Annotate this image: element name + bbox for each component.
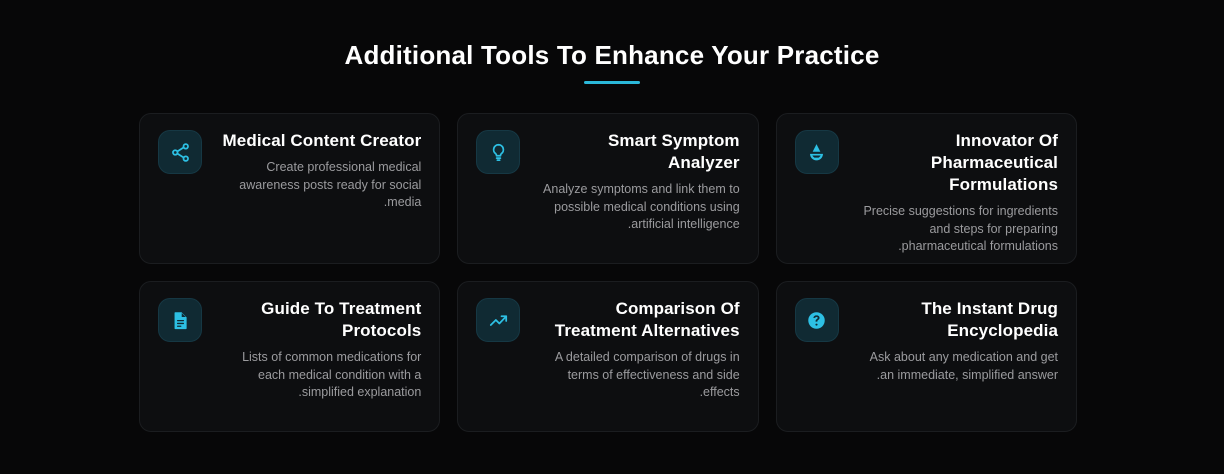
- card-text-block: Smart Symptom Analyzer Analyze symptoms …: [534, 130, 739, 234]
- card-text-block: Guide To Treatment Protocols Lists of co…: [216, 298, 421, 402]
- card-text-block: The Instant Drug Encyclopedia Ask about …: [853, 298, 1058, 384]
- card-title: Smart Symptom Analyzer: [534, 130, 739, 174]
- card-icon-tile[interactable]: [158, 130, 202, 174]
- tool-card-treatment-alternatives[interactable]: Comparison Of Treatment Alternatives A d…: [457, 281, 758, 432]
- card-text-block: Medical Content Creator Create professio…: [216, 130, 421, 212]
- share-icon: [170, 142, 191, 163]
- card-description: Lists of common medications for each med…: [216, 349, 421, 402]
- lightbulb-icon: [488, 142, 509, 163]
- tool-card-treatment-protocols[interactable]: Guide To Treatment Protocols Lists of co…: [139, 281, 440, 432]
- tool-card-pharmaceutical-formulations[interactable]: Innovator Of Pharmaceutical Formulations…: [776, 113, 1077, 264]
- card-description: Analyze symptoms and link them to possib…: [534, 181, 739, 234]
- card-title: The Instant Drug Encyclopedia: [853, 298, 1058, 342]
- card-description: A detailed comparison of drugs in terms …: [534, 349, 739, 402]
- tool-card-smart-symptom-analyzer[interactable]: Smart Symptom Analyzer Analyze symptoms …: [457, 113, 758, 264]
- section-heading: Additional Tools To Enhance Your Practic…: [0, 38, 1224, 84]
- card-text-block: Comparison Of Treatment Alternatives A d…: [534, 298, 739, 402]
- card-title: Medical Content Creator: [216, 130, 421, 152]
- card-title: Comparison Of Treatment Alternatives: [534, 298, 739, 342]
- trending-up-icon: [488, 310, 509, 331]
- card-text-block: Innovator Of Pharmaceutical Formulations…: [853, 130, 1058, 256]
- card-title: Guide To Treatment Protocols: [216, 298, 421, 342]
- card-icon-tile[interactable]: [158, 298, 202, 342]
- card-title: Innovator Of Pharmaceutical Formulations: [853, 130, 1058, 196]
- card-description: Create professional medical awareness po…: [216, 159, 421, 212]
- tools-card-grid: Medical Content Creator Create professio…: [139, 113, 1077, 432]
- page-root: Additional Tools To Enhance Your Practic…: [0, 0, 1224, 474]
- card-icon-tile[interactable]: [476, 130, 520, 174]
- card-description: Ask about any medication and get an imme…: [853, 349, 1058, 384]
- page-title: Additional Tools To Enhance Your Practic…: [0, 38, 1224, 72]
- file-text-icon: [170, 310, 191, 331]
- card-icon-tile[interactable]: [476, 298, 520, 342]
- card-description: Precise suggestions for ingredients and …: [853, 203, 1058, 256]
- help-circle-icon: [806, 310, 827, 331]
- tool-card-instant-drug-encyclopedia[interactable]: The Instant Drug Encyclopedia Ask about …: [776, 281, 1077, 432]
- flask-icon: [806, 142, 827, 163]
- card-icon-tile[interactable]: [795, 298, 839, 342]
- title-underline-accent: [584, 81, 640, 84]
- card-icon-tile[interactable]: [795, 130, 839, 174]
- tool-card-medical-content-creator[interactable]: Medical Content Creator Create professio…: [139, 113, 440, 264]
